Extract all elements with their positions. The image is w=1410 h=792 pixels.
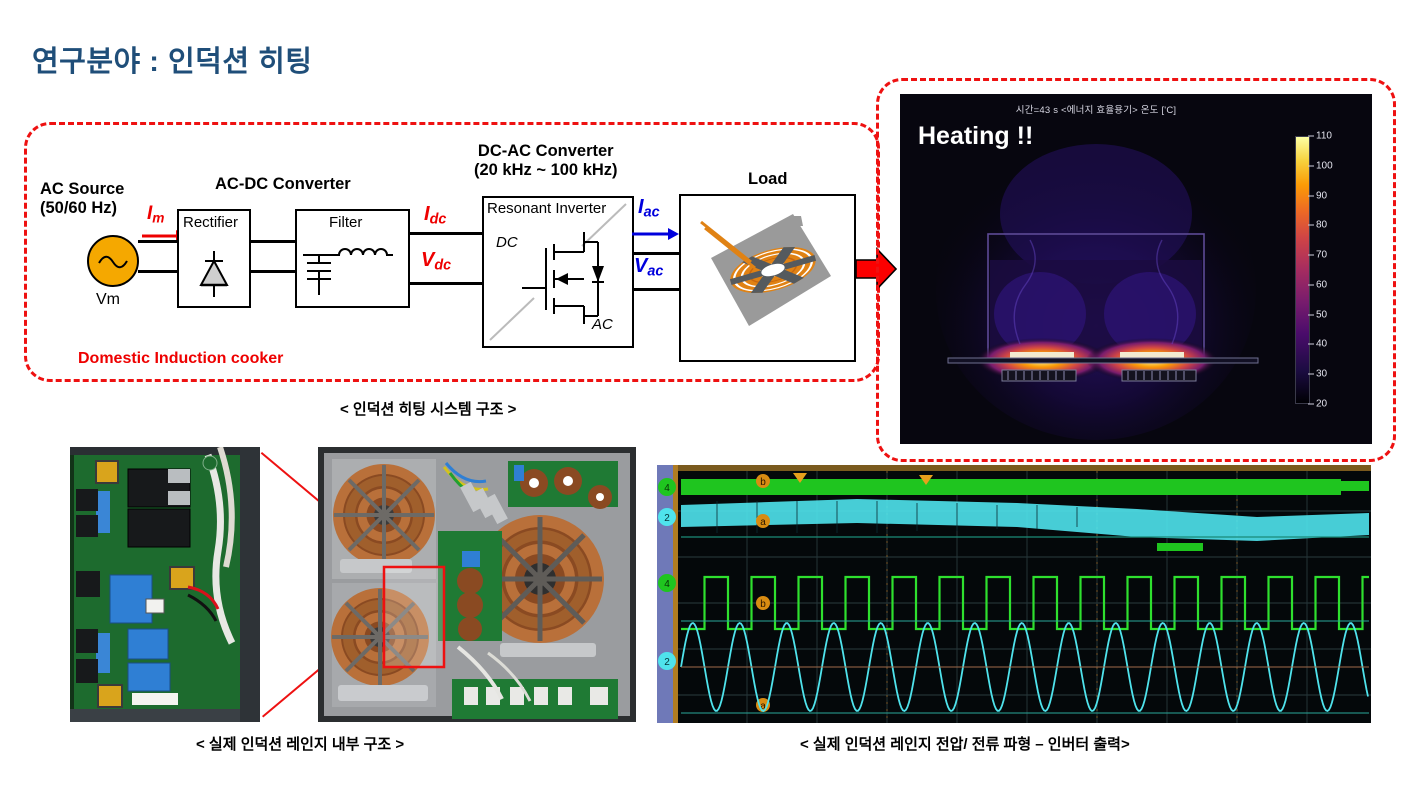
wire-rect-filter-top bbox=[251, 240, 295, 243]
dcac-header-line2: (20 kHz ~ 100 kHz) bbox=[474, 161, 618, 180]
colorbar-tick-mark bbox=[1308, 255, 1314, 256]
colorbar-tick-label: 100 bbox=[1316, 160, 1333, 171]
pcb-photo bbox=[70, 447, 260, 722]
scope-photo-caption: < 실제 인덕션 레인지 전압/ 전류 파형 – 인버터 출력> bbox=[800, 733, 1130, 754]
wire-source-top bbox=[138, 240, 178, 243]
diagram-caption: < 인덕션 히팅 시스템 구조 > bbox=[340, 398, 516, 419]
colorbar-tick-mark bbox=[1308, 284, 1314, 285]
dcac-header: DC-AC Converter (20 kHz ~ 100 kHz) bbox=[474, 142, 618, 180]
acdc-header: AC-DC Converter bbox=[215, 175, 351, 194]
colorbar-tick-label: 30 bbox=[1316, 369, 1327, 380]
colorbar-tick-mark bbox=[1308, 165, 1314, 166]
domestic-induction-cooker-label: Domestic Induction cooker bbox=[78, 350, 283, 368]
resonant-inverter-label: Resonant Inverter bbox=[487, 200, 606, 217]
rectifier-label: Rectifier bbox=[183, 214, 238, 231]
voltage-vac-label: Vac bbox=[634, 255, 663, 280]
colorbar bbox=[1295, 136, 1310, 404]
current-iac-label: Iac bbox=[638, 196, 660, 221]
load-header: Load bbox=[748, 170, 787, 189]
ac-source-title-line1: AC Source bbox=[40, 180, 124, 198]
svg-text:4: 4 bbox=[664, 579, 670, 590]
wire-ac-bottom bbox=[634, 288, 680, 291]
mosfet-icon bbox=[512, 226, 622, 330]
cooktop-photo bbox=[318, 447, 636, 722]
colorbar-tick-mark bbox=[1308, 225, 1314, 226]
filter-label: Filter bbox=[329, 214, 362, 231]
slide-root: 연구분야 : 인덕션 히팅 AC Source (50/60 Hz) Vm Im… bbox=[0, 0, 1410, 792]
pcb-photo-caption: < 실제 인덕션 레인지 내부 구조 > bbox=[196, 733, 404, 754]
colorbar-tick-label: 20 bbox=[1316, 399, 1327, 410]
colorbar-tick-mark bbox=[1308, 136, 1314, 137]
svg-text:2: 2 bbox=[664, 657, 670, 668]
colorbar-tick-mark bbox=[1308, 195, 1314, 196]
filter-block: Filter bbox=[295, 209, 410, 308]
colorbar-tick-mark bbox=[1308, 374, 1314, 375]
colorbar-tick-mark bbox=[1308, 404, 1314, 405]
rectifier-block: Rectifier bbox=[177, 209, 251, 308]
colorbar-tick-label: 90 bbox=[1316, 190, 1327, 201]
simulation-top-text: 시간=43 s <에너지 효율용기> 온도 ['C] bbox=[900, 102, 1292, 116]
current-idc-label: Idc bbox=[424, 203, 446, 228]
colorbar-tick-label: 110 bbox=[1316, 131, 1332, 142]
voltage-vdc-label: Vdc bbox=[421, 249, 451, 274]
induction-coil-illustration bbox=[681, 196, 854, 360]
wire-source-bottom bbox=[138, 270, 178, 273]
resonant-inverter-block: Resonant Inverter DC AC bbox=[482, 196, 634, 348]
pcb-photo-graphic bbox=[70, 447, 260, 722]
colorbar-tick-label: 60 bbox=[1316, 279, 1327, 290]
colorbar-tick-label: 40 bbox=[1316, 339, 1327, 350]
dcac-header-line1: DC-AC Converter bbox=[474, 142, 618, 161]
page-title: 연구분야 : 인덕션 히팅 bbox=[32, 38, 312, 80]
wire-rect-filter-bottom bbox=[251, 270, 295, 273]
wire-dc-bottom bbox=[410, 282, 482, 285]
svg-text:b: b bbox=[760, 477, 766, 488]
wire-dc-top bbox=[410, 232, 482, 235]
ac-source-title: AC Source (50/60 Hz) bbox=[40, 180, 124, 219]
ac-source-title-line2: (50/60 Hz) bbox=[40, 199, 117, 217]
simulation-panel: 시간=43 s <에너지 효율용기> 온도 ['C] Heating !! 11… bbox=[900, 94, 1372, 444]
ac-source-symbol bbox=[87, 235, 139, 287]
colorbar-tick-mark bbox=[1308, 314, 1314, 315]
current-im-label: Im bbox=[147, 203, 164, 225]
lc-filter-icon bbox=[297, 237, 408, 307]
diode-icon bbox=[179, 239, 249, 305]
svg-text:2: 2 bbox=[664, 513, 670, 524]
colorbar-tick-label: 80 bbox=[1316, 220, 1327, 231]
scope-photo-graphic: 4 2 4 2 b a b a bbox=[657, 465, 1371, 723]
svg-text:b: b bbox=[760, 599, 766, 610]
cooktop-photo-graphic bbox=[318, 447, 636, 722]
scope-photo: 4 2 4 2 b a b a bbox=[657, 465, 1371, 723]
load-block bbox=[679, 194, 856, 362]
heating-overlay-text: Heating !! bbox=[918, 122, 1033, 151]
colorbar-tick-label: 70 bbox=[1316, 250, 1327, 261]
svg-text:a: a bbox=[760, 517, 766, 528]
colorbar-tick-label: 50 bbox=[1316, 309, 1327, 320]
iac-arrow-icon bbox=[630, 226, 680, 242]
svg-text:4: 4 bbox=[664, 483, 670, 494]
ac-source-vm-label: Vm bbox=[96, 291, 120, 309]
colorbar-tick-mark bbox=[1308, 344, 1314, 345]
